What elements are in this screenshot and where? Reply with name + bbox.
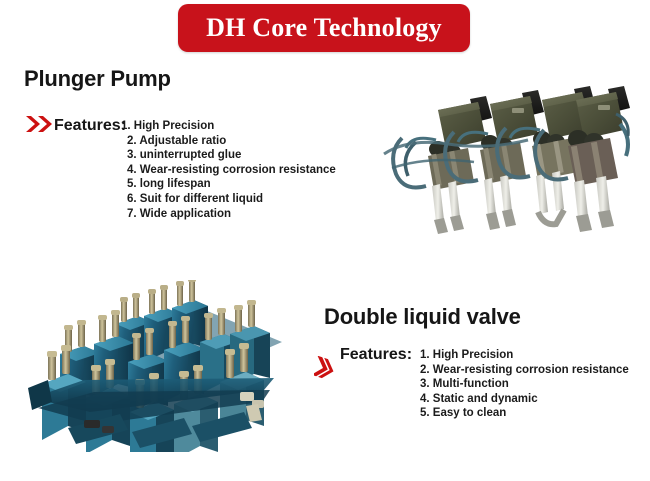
- list-item: 6. Suit for different liquid: [121, 192, 336, 207]
- double-liquid-valve-feature-list: 1. High Precision 2. Wear-resisting corr…: [420, 348, 629, 421]
- list-item: 3. Multi-function: [420, 377, 629, 392]
- double-liquid-valve-heading: Double liquid valve: [324, 304, 521, 330]
- list-item: 2. Adjustable ratio: [121, 134, 336, 149]
- plunger-pump-feature-list: 1. High Precision 2. Adjustable ratio 3.…: [121, 119, 336, 221]
- list-item: 5. long lifespan: [121, 177, 336, 192]
- list-item: 1. High Precision: [420, 348, 629, 363]
- slide-canvas: DH Core Technology Plunger Pump Features…: [0, 0, 650, 481]
- double-chevron-right-icon: [312, 356, 334, 380]
- list-item: 4. Wear-resisting corrosion resistance: [121, 163, 336, 178]
- list-item: 7. Wide application: [121, 207, 336, 222]
- page-title: DH Core Technology: [206, 15, 442, 41]
- plunger-pump-features-label: Features:: [54, 117, 126, 135]
- plunger-pump-heading: Plunger Pump: [24, 66, 171, 92]
- double-liquid-valve-photo: [24, 280, 314, 452]
- plunger-pump-photo: [378, 82, 640, 250]
- list-item: 2. Wear-resisting corrosion resistance: [420, 363, 629, 378]
- title-banner: DH Core Technology: [178, 4, 470, 52]
- list-item: 4. Static and dynamic: [420, 392, 629, 407]
- list-item: 3. uninterrupted glue: [121, 148, 336, 163]
- list-item: 5. Easy to clean: [420, 406, 629, 421]
- double-liquid-valve-features-label: Features:: [340, 346, 412, 364]
- double-chevron-right-icon: [25, 114, 55, 134]
- list-item: 1. High Precision: [121, 119, 336, 134]
